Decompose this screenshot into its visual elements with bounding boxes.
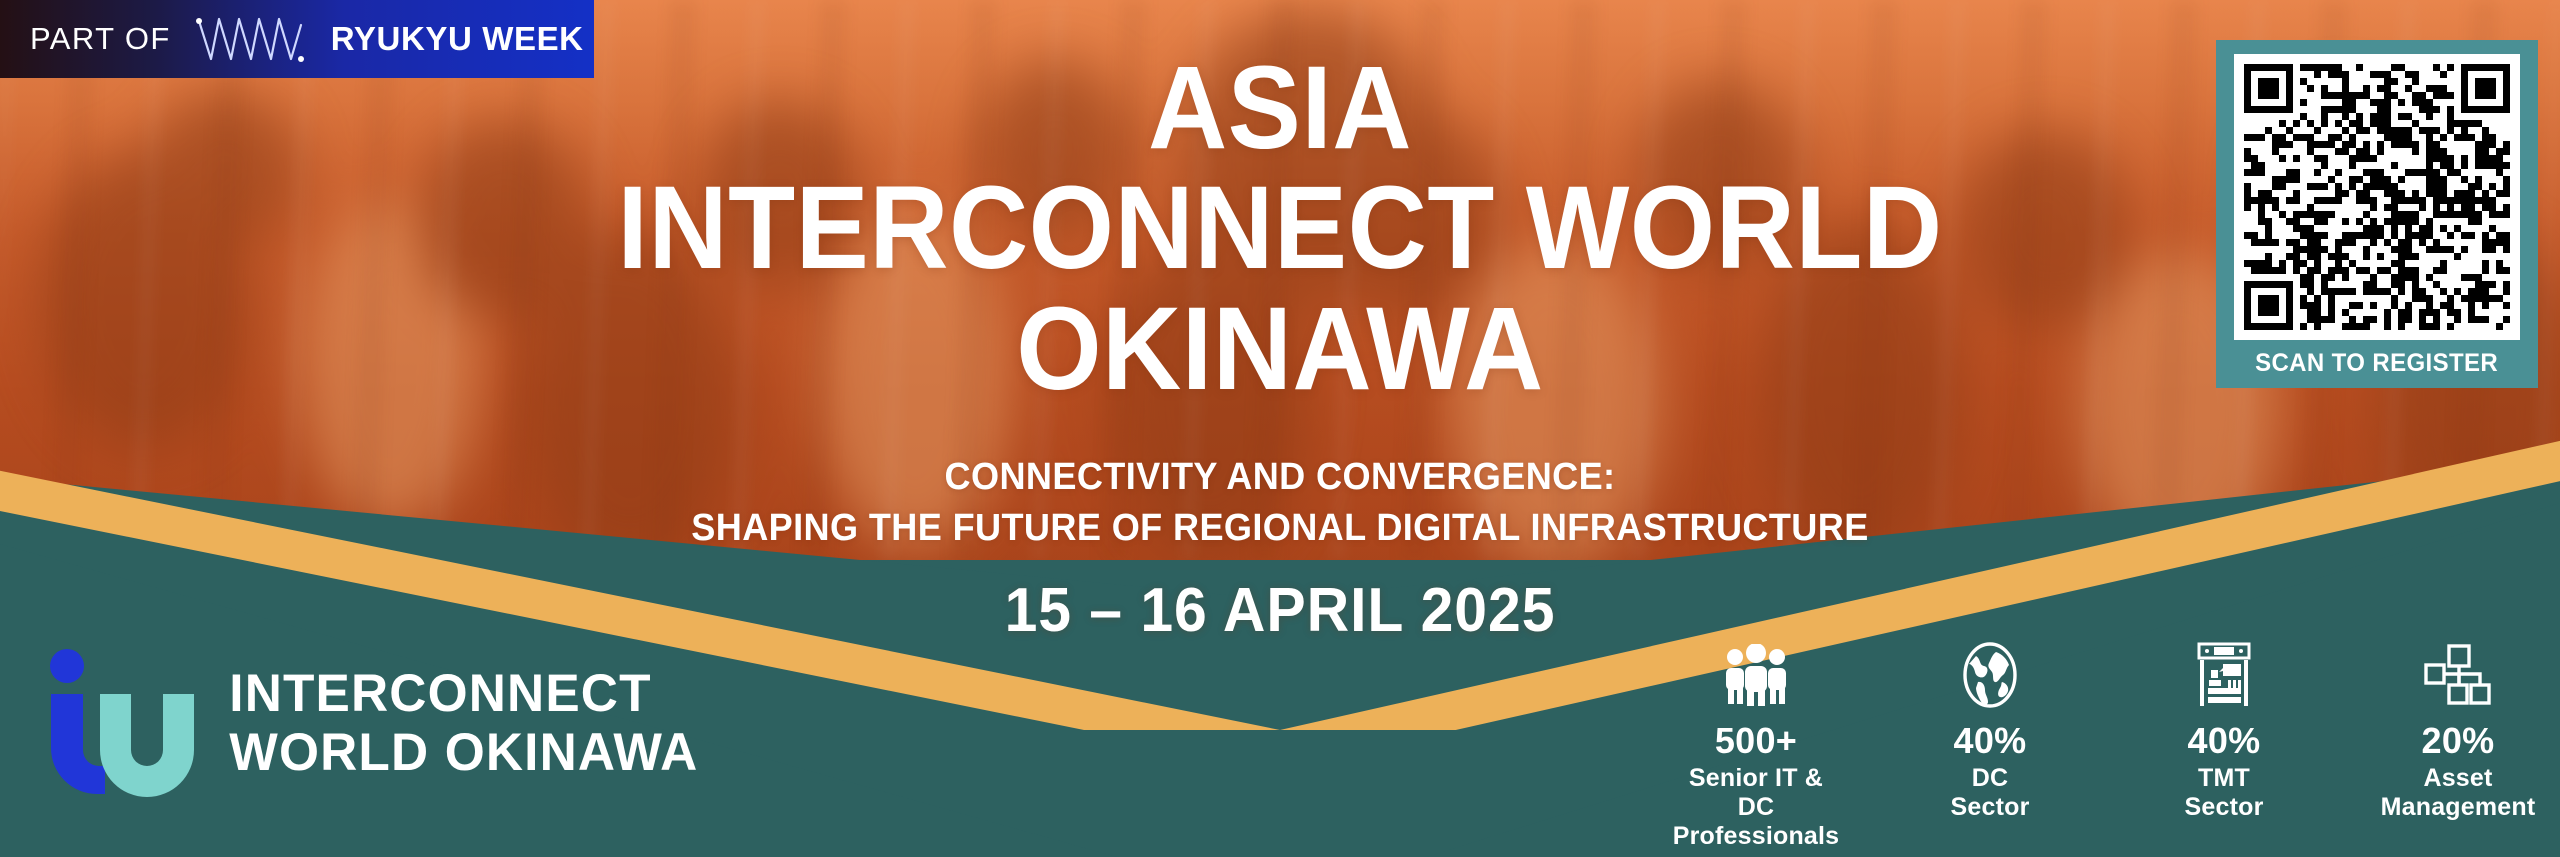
qr-register-panel[interactable]: SCAN TO REGISTER [2216,40,2538,388]
stat-value: 40% [1906,720,2074,762]
three-people-icon [1672,634,1840,716]
title-line-3: OKINAWA [90,289,2471,409]
interconnect-world-okinawa-logo[interactable]: INTERCONNECT WORLD OKINAWA [38,648,706,798]
qr-code-frame [2234,54,2520,340]
logo-wordmark: INTERCONNECT WORLD OKINAWA [229,664,698,783]
stat-label: TMT Sector [2140,764,2308,822]
globe-icon [1906,634,2074,716]
stat-item: 40% DC Sector [1906,634,2074,822]
stat-value: 500+ [1672,720,1840,762]
logo-wordmark-line-2: WORLD OKINAWA [229,723,698,782]
event-banner: PART OF RYUKYU WEEK ASIA INTERCONNECT WO… [0,0,2560,857]
stat-label-line-2: Management [2374,793,2542,822]
stat-label-line-1: Asset [2374,764,2542,793]
title-line-2: INTERCONNECT WORLD [90,168,2471,288]
logo-wordmark-line-1: INTERCONNECT [229,664,698,723]
stat-item: 40% TMT Sector [2140,634,2308,822]
stat-label-line-2: Sector [1906,793,2074,822]
stat-label-line-1: DC [1906,764,2074,793]
qr-code-icon[interactable] [2244,64,2510,330]
subtitle-line-1: CONNECTIVITY AND CONVERGENCE: [64,452,2496,503]
subtitle-line-2: SHAPING THE FUTURE OF REGIONAL DIGITAL I… [64,503,2496,554]
server-rack-icon [2140,634,2308,716]
stat-label-line-1: TMT [2140,764,2308,793]
iu-monogram-icon [38,648,196,798]
stat-item: 500+ Senior IT & DC Professionals [1672,634,1840,851]
qr-caption: SCAN TO REGISTER [2255,349,2498,378]
audience-stats: 500+ Senior IT & DC Professionals 40% DC… [1672,634,2542,851]
stat-label-line-2: Sector [2140,793,2308,822]
page-title: ASIA INTERCONNECT WORLD OKINAWA [90,48,2471,409]
stat-label-line-2: DC Professionals [1672,793,1840,851]
stat-value: 40% [2140,720,2308,762]
subtitle: CONNECTIVITY AND CONVERGENCE: SHAPING TH… [64,452,2496,555]
stat-value: 20% [2374,720,2542,762]
network-topology-icon [2374,634,2542,716]
title-line-1: ASIA [90,48,2471,168]
stat-label: DC Sector [1906,764,2074,822]
stat-label: Senior IT & DC Professionals [1672,764,1840,851]
stat-item: 20% Asset Management [2374,634,2542,822]
stat-label: Asset Management [2374,764,2542,822]
stat-label-line-1: Senior IT & [1672,764,1840,793]
